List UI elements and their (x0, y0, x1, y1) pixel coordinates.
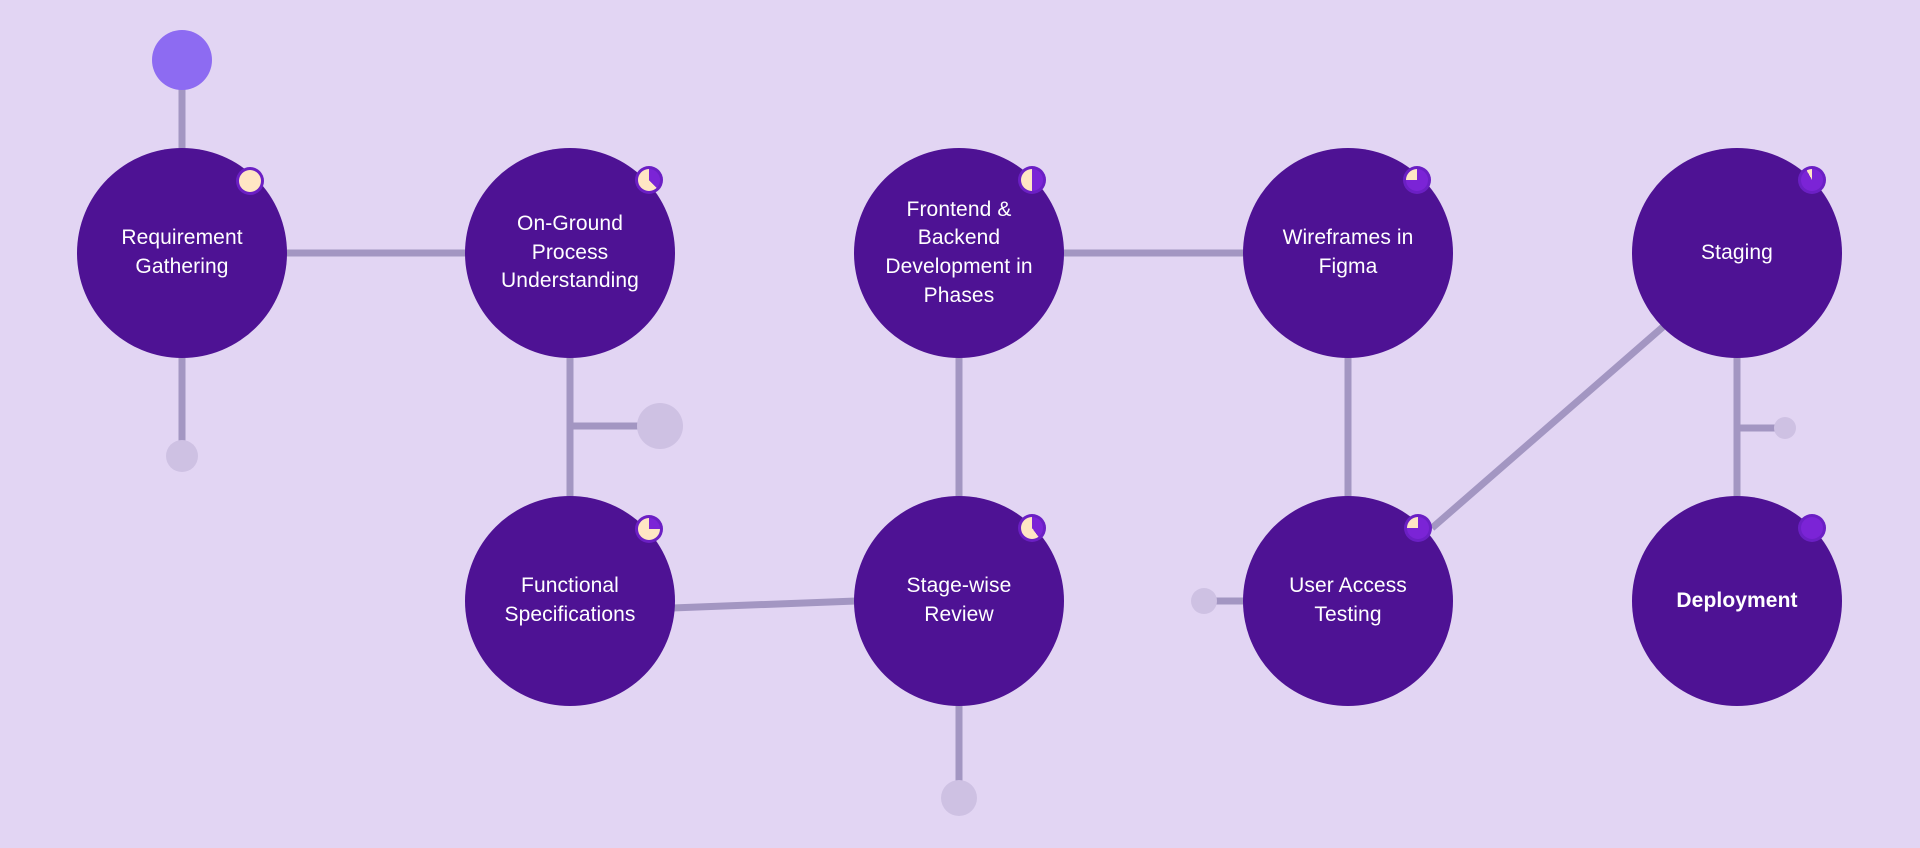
progress-badge-stage-wise-review[interactable] (1018, 514, 1046, 542)
progress-pie-requirement-gathering (239, 170, 261, 192)
progress-pie-functional-specifications (638, 518, 660, 540)
connector-functional-to-stage-wise (672, 601, 856, 608)
progress-pie-stage-wise-review (1021, 517, 1043, 539)
dot-right-of-on-ground[interactable] (637, 403, 683, 449)
dot-left-of-user-access-testing[interactable] (1191, 588, 1217, 614)
node-label-stage-wise-review: Stage-wise Review (893, 572, 1026, 629)
progress-badge-functional-specifications[interactable] (635, 515, 663, 543)
node-label-staging: Staging (1687, 239, 1787, 268)
dot-right-of-staging[interactable] (1774, 417, 1796, 439)
node-label-functional-specifications: Functional Specifications (491, 572, 650, 629)
dot-below-stage-wise-review[interactable] (941, 780, 977, 816)
node-label-user-access-testing: User Access Testing (1275, 572, 1421, 629)
accent-dot-top[interactable] (152, 30, 212, 90)
connector-layer (0, 0, 1920, 848)
progress-pie-user-access-testing (1407, 517, 1429, 539)
progress-badge-frontend-backend-development-in-phases[interactable] (1018, 166, 1046, 194)
node-label-on-ground-process-understanding: On-Ground Process Understanding (487, 210, 653, 296)
connector-staging-to-user-access (1432, 326, 1664, 528)
progress-badge-user-access-testing[interactable] (1404, 514, 1432, 542)
dot-below-requirement[interactable] (166, 440, 198, 472)
progress-badge-requirement-gathering[interactable] (236, 167, 264, 195)
node-label-requirement-gathering: Requirement Gathering (107, 224, 256, 281)
progress-badge-staging[interactable] (1798, 166, 1826, 194)
progress-pie-on-ground-process-understanding (638, 169, 660, 191)
progress-badge-deployment[interactable] (1798, 514, 1826, 542)
progress-pie-deployment (1801, 517, 1823, 539)
progress-pie-frontend-backend-development-in-phases (1021, 169, 1043, 191)
progress-badge-on-ground-process-understanding[interactable] (635, 166, 663, 194)
node-label-wireframes-in-figma: Wireframes in Figma (1269, 224, 1428, 281)
diagram-canvas: Requirement GatheringOn-Ground Process U… (0, 0, 1920, 848)
progress-badge-wireframes-in-figma[interactable] (1403, 166, 1431, 194)
node-label-frontend-backend-development-in-phases: Frontend & Backend Development in Phases (871, 196, 1046, 310)
progress-pie-staging (1801, 169, 1823, 191)
node-label-deployment: Deployment (1662, 587, 1811, 616)
progress-pie-wireframes-in-figma (1406, 169, 1428, 191)
